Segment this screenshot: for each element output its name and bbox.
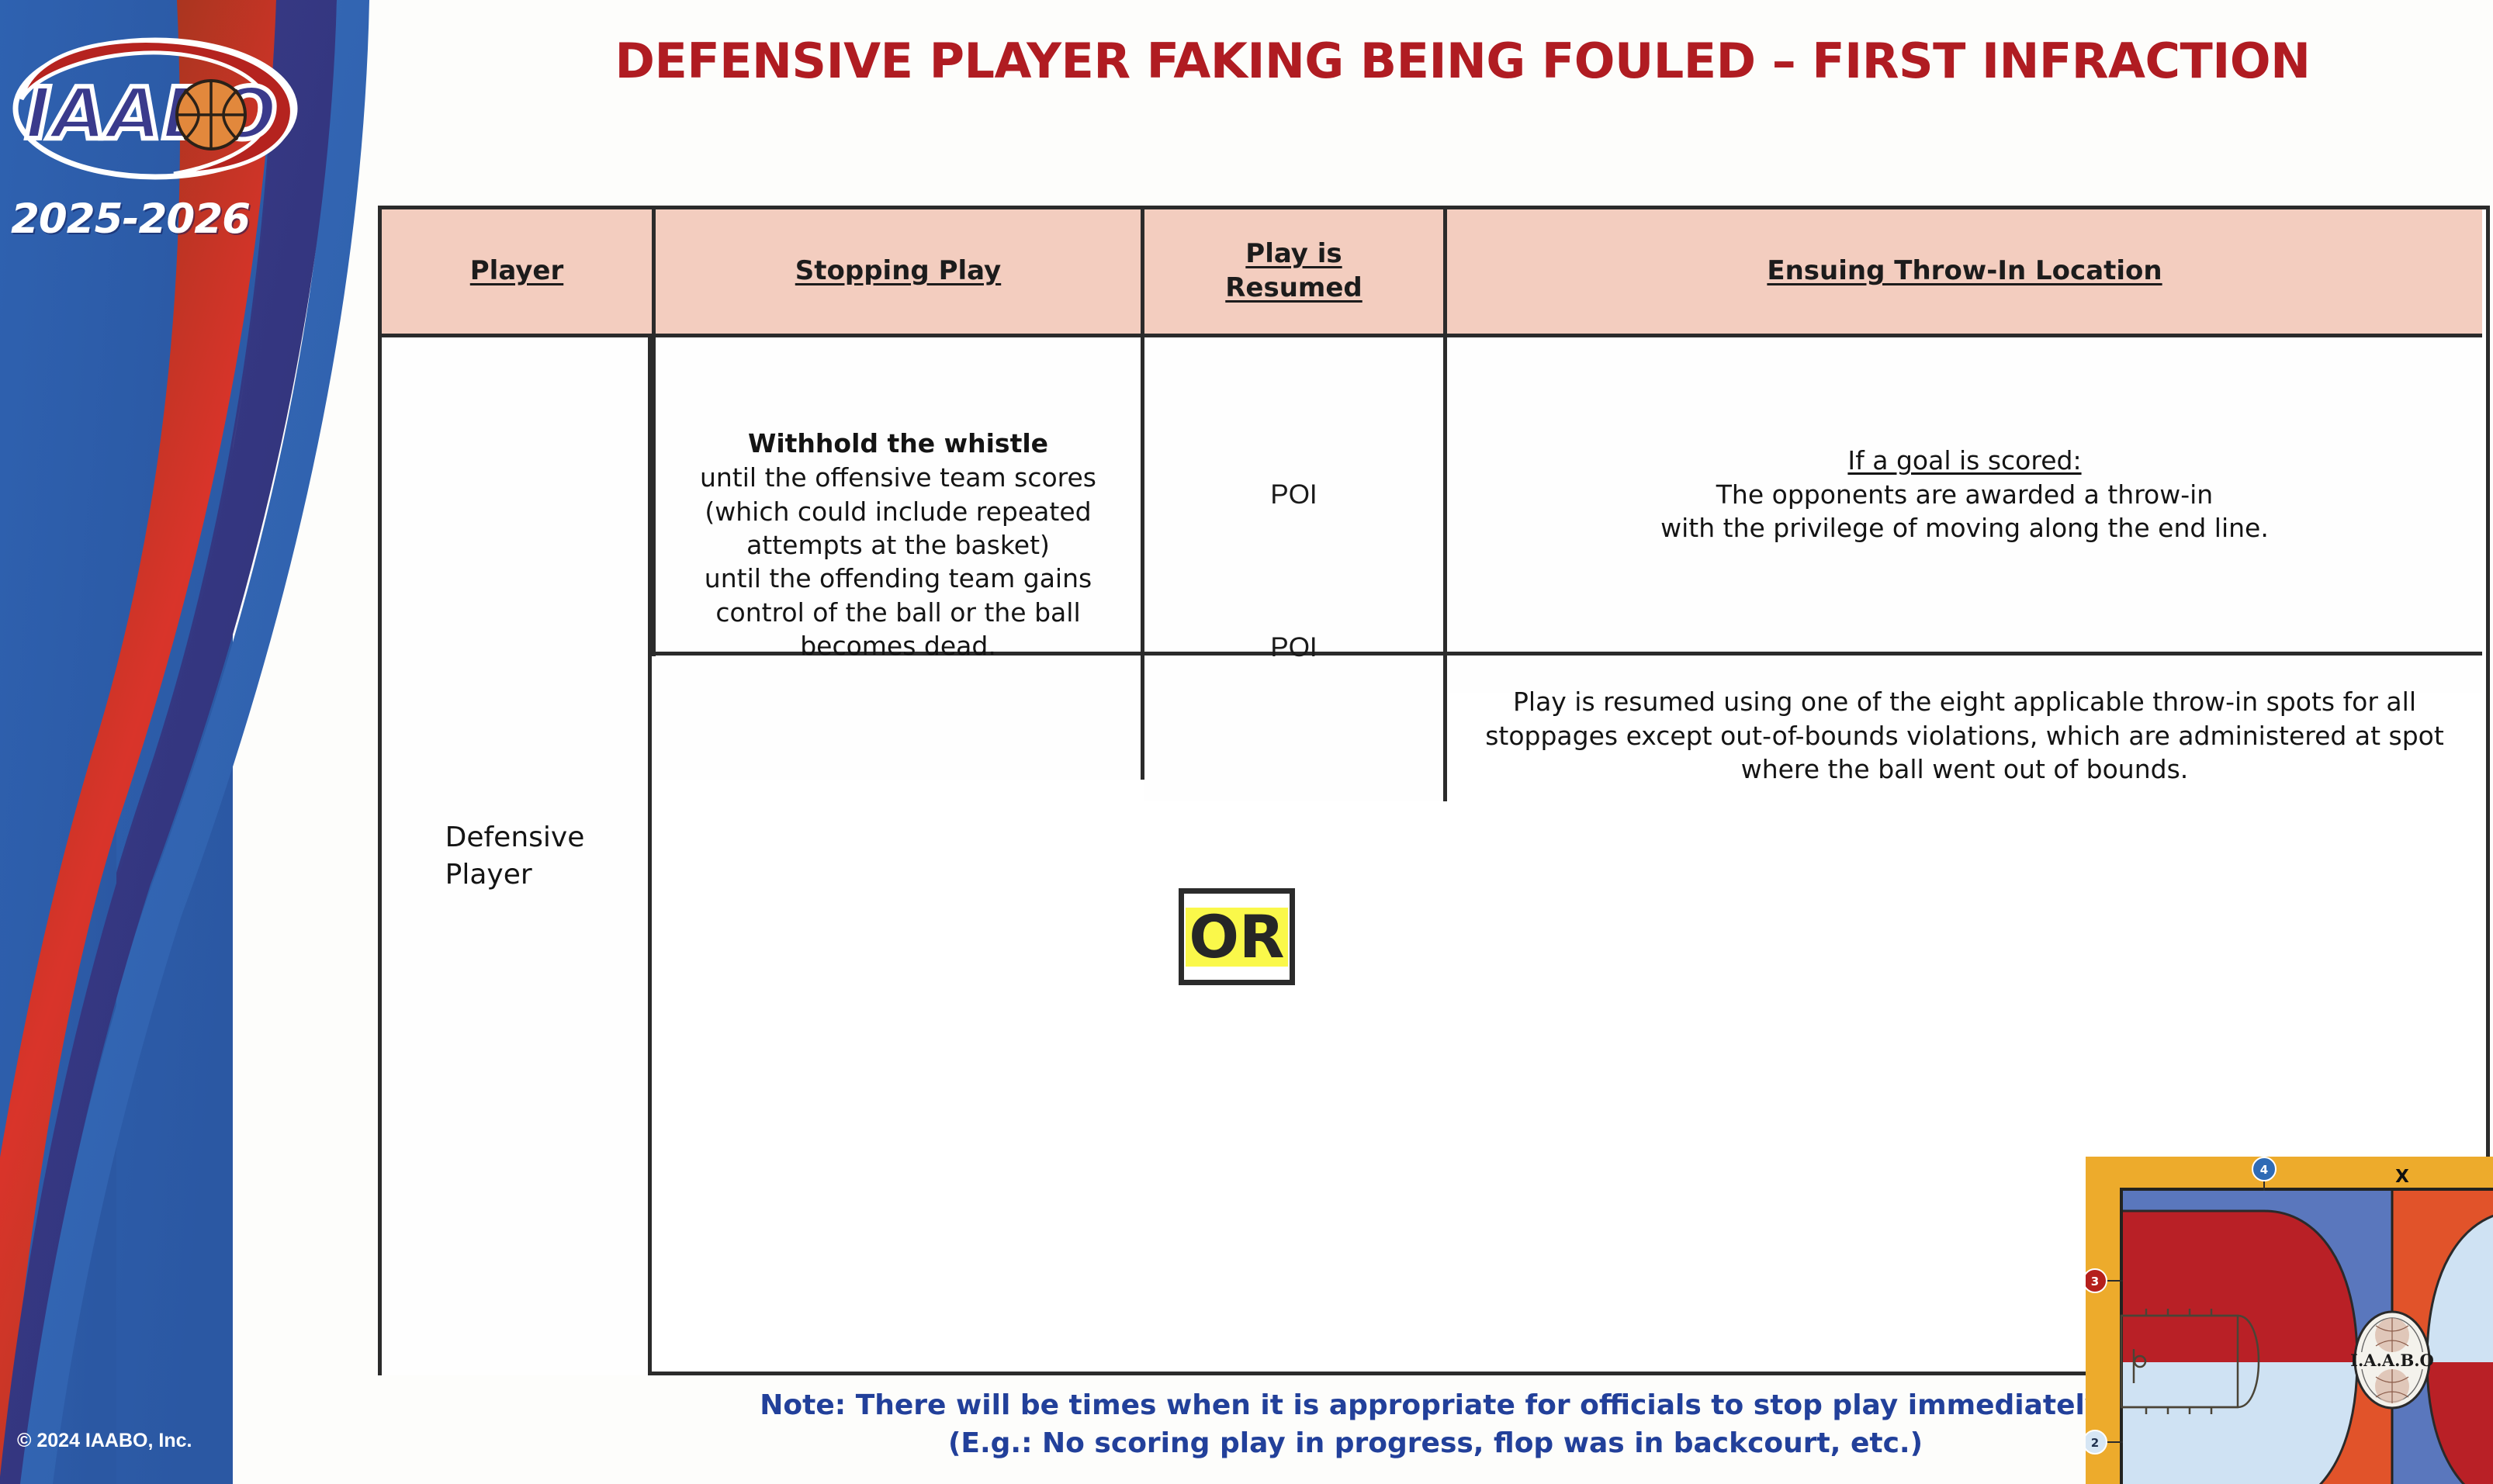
table-cell-throwin-r2: Play is resumed using one of the eight a… (1447, 656, 2482, 693)
table-header-stopping-play: Stopping Play (656, 209, 1144, 337)
table-header-play-resumed: Play is Resumed (1144, 209, 1447, 337)
svg-text:I.A.A.B.O: I.A.A.B.O (2350, 1351, 2434, 1370)
throwin-heading-r1: If a goal is scored: (1847, 445, 2081, 476)
play-resumed-value-r1: POI (1270, 479, 1317, 510)
table-cell-player-value: Defensive Player (382, 337, 652, 1375)
table-cell-play-resumed-r1: POI (1144, 337, 1447, 656)
poster-page: IAABO 2025-2026 © 2024 IAABO, Inc. DEFEN… (0, 0, 2493, 1484)
table-cell-stopping-play-r2: until the offending team gains control o… (656, 656, 1144, 780)
stopping-play-rest-r2: until the offending team gains control o… (705, 563, 1092, 661)
svg-text:3: 3 (2091, 1275, 2099, 1289)
court-spot-3-left: 3 (2086, 1269, 2107, 1292)
table-cell-throwin-r1: If a goal is scored: The opponents are a… (1447, 337, 2482, 656)
court-center-marker: X (2395, 1167, 2409, 1187)
page-title: DEFENSIVE PLAYER FAKING BEING FOULED – F… (435, 33, 2491, 89)
basketball-court-diagram: I.A.A.B.O X 4 1 3 (2086, 1157, 2493, 1484)
header-label-stopping-play: Stopping Play (795, 254, 1001, 289)
stopping-play-rest-r1: until the offensive team scores (which c… (700, 462, 1096, 560)
header-label-player: Player (470, 254, 563, 289)
svg-text:4: 4 (2260, 1163, 2268, 1177)
copyright-notice: © 2024 IAABO, Inc. (17, 1430, 192, 1452)
iaabo-logo: IAABO (8, 22, 303, 200)
season-label: 2025-2026 (11, 195, 250, 243)
throwin-body-r1: The opponents are awarded a throw-in wit… (1660, 479, 2269, 544)
table-header-throwin-location: Ensuing Throw-In Location (1447, 209, 2482, 337)
throwin-body-r2: Play is resumed using one of the eight a… (1464, 685, 2465, 787)
or-divider-badge: OR (1179, 888, 1295, 985)
header-label-throwin-location: Ensuing Throw-In Location (1767, 254, 2162, 289)
header-label-play-resumed: Play is Resumed (1225, 237, 1362, 305)
table-cell-play-resumed-r2: POI (1144, 656, 1447, 801)
table-header-player: Player (382, 209, 656, 337)
play-resumed-value-r2: POI (1270, 632, 1317, 663)
court-spot-2-left: 2 (2086, 1430, 2107, 1454)
stopping-play-bold-r1: Withhold the whistle (748, 428, 1048, 458)
rules-table: Player Stopping Play Play is Resumed Ens… (378, 206, 2490, 1375)
court-spot-4-top: 4 (2252, 1157, 2276, 1181)
or-label: OR (1186, 908, 1287, 967)
svg-text:2: 2 (2091, 1436, 2099, 1450)
player-value: Defensive Player (445, 819, 585, 893)
